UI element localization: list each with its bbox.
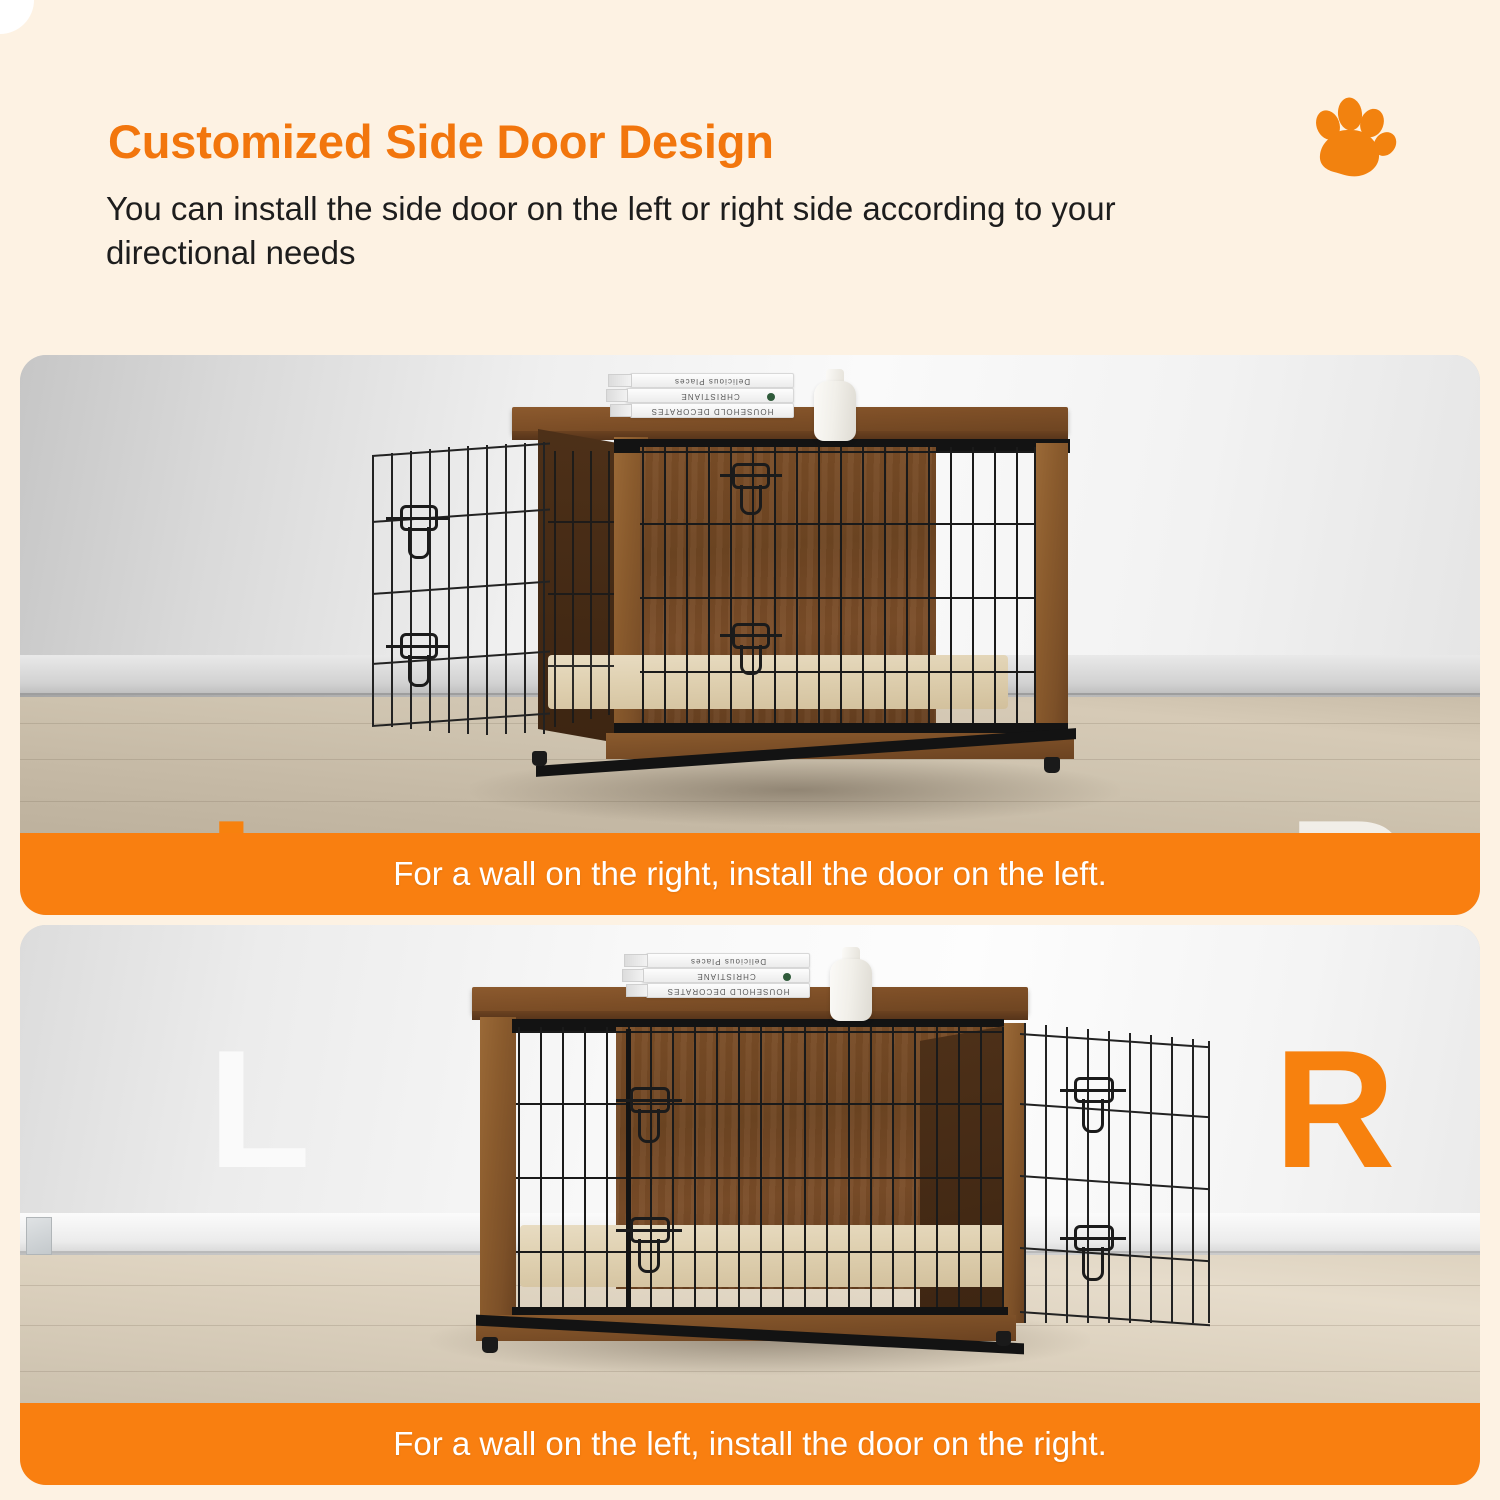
ceramic-vase-2 xyxy=(830,959,872,1021)
crate-foot-left-2 xyxy=(482,1337,498,1353)
book-stack-2: Delicious Places CHRISTIANE HOUSEHOLD DE… xyxy=(620,953,810,999)
caption-text-right: For a wall on the left, install the door… xyxy=(393,1425,1107,1463)
page-title: Customized Side Door Design xyxy=(108,114,774,169)
front-door-latch-upper-2[interactable] xyxy=(616,1087,682,1145)
scene-left-door: L R xyxy=(20,355,1480,835)
crate-foot-right-2 xyxy=(996,1331,1011,1346)
header: Customized Side Door Design You can inst… xyxy=(0,0,1500,340)
side-door-latch-lower-left[interactable] xyxy=(386,633,450,689)
book-title-3: HOUSEHOLD DECORATES xyxy=(631,407,793,416)
crate-front-wire-panel xyxy=(640,447,1036,739)
crate-foot-right xyxy=(1044,757,1060,773)
crate-front-left-post-2 xyxy=(480,1017,516,1325)
dog-crate-right-door: Delicious Places CHRISTIANE HOUSEHOLD DE… xyxy=(20,925,1480,1405)
crate-foot-left xyxy=(532,751,547,766)
crate-front-right-post xyxy=(1036,443,1068,743)
paw-print-icon xyxy=(1306,92,1398,182)
crate-side-wire-inner xyxy=(548,451,614,727)
side-door-latch-upper-left[interactable] xyxy=(386,505,450,561)
front-door-latch-lower-2[interactable] xyxy=(616,1217,682,1275)
book-title-1-b: Delicious Places xyxy=(647,957,809,966)
page-subtitle: You can install the side door on the lef… xyxy=(106,187,1116,274)
front-door-latch-lower[interactable] xyxy=(720,623,782,677)
panel-left-door: L R xyxy=(20,355,1480,915)
scene-right-door: L R xyxy=(20,925,1480,1405)
caption-bar-left-door: For a wall on the right, install the doo… xyxy=(20,833,1480,915)
ceramic-vase xyxy=(814,381,856,441)
book-title-1: Delicious Places xyxy=(631,377,793,386)
dog-crate-left-door: Delicious Places CHRISTIANE HOUSEHOLD DE… xyxy=(20,355,1480,835)
side-door-latch-upper-right[interactable] xyxy=(1060,1077,1126,1135)
caption-bar-right-door: For a wall on the left, install the door… xyxy=(20,1403,1480,1485)
side-door-open-left[interactable] xyxy=(372,441,550,733)
front-door-latch-upper[interactable] xyxy=(720,463,782,517)
caption-text-left: For a wall on the right, install the doo… xyxy=(393,855,1107,893)
book-title-3-b: HOUSEHOLD DECORATES xyxy=(647,987,809,996)
page-root: Customized Side Door Design You can inst… xyxy=(0,0,1500,1500)
side-door-latch-lower-right[interactable] xyxy=(1060,1225,1126,1283)
book-stack: Delicious Places CHRISTIANE HOUSEHOLD DE… xyxy=(604,373,794,419)
panel-right-door: L R xyxy=(20,925,1480,1485)
crate-front-wire-panel-2 xyxy=(516,1027,1008,1319)
